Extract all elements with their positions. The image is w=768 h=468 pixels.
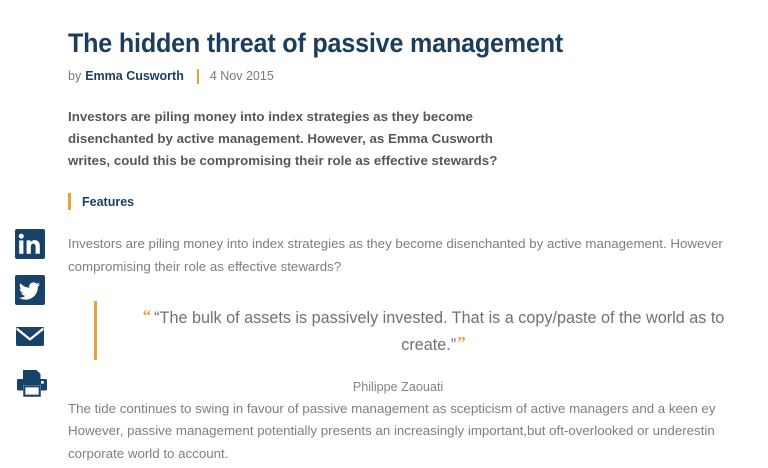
envelope-icon bbox=[14, 320, 46, 352]
category-tag-features[interactable]: Features bbox=[82, 195, 134, 209]
byline-date: 4 Nov 2015 bbox=[210, 70, 274, 83]
pull-quote: ““The bulk of assets is passively invest… bbox=[94, 301, 754, 360]
quote-close-mark: ” bbox=[457, 333, 466, 352]
pull-quote-text-row: ““The bulk of assets is passively invest… bbox=[113, 303, 754, 358]
article-intro-paragraph: Investors are piling money into index st… bbox=[68, 233, 768, 279]
social-share-rail bbox=[14, 228, 54, 398]
byline-author-link[interactable]: Emma Cusworth bbox=[85, 70, 184, 83]
quote-open-mark: “ bbox=[143, 306, 152, 325]
article-standfirst: Investors are piling money into index st… bbox=[68, 106, 498, 171]
pull-quote-attribution: Philippe Zaouati bbox=[68, 380, 728, 394]
printer-icon bbox=[14, 366, 50, 402]
byline: by Emma Cusworth 4 Nov 2015 bbox=[68, 69, 768, 84]
linkedin-icon bbox=[14, 228, 46, 260]
linkedin-share-button[interactable] bbox=[14, 228, 46, 260]
article-content: The hidden threat of passive management … bbox=[68, 0, 768, 468]
print-button[interactable] bbox=[14, 366, 46, 398]
byline-divider bbox=[197, 69, 199, 84]
pull-quote-text: “The bulk of assets is passively investe… bbox=[154, 309, 724, 354]
page-title: The hidden threat of passive management bbox=[68, 0, 725, 58]
article-page: The hidden threat of passive management … bbox=[0, 0, 768, 468]
byline-by-word: by bbox=[68, 70, 81, 83]
article-body-paragraph: The tide continues to swing in favour of… bbox=[68, 398, 768, 467]
email-share-button[interactable] bbox=[14, 320, 46, 352]
category-tag-row: Features bbox=[68, 193, 768, 210]
twitter-icon bbox=[14, 274, 46, 306]
category-tag-bar bbox=[68, 193, 71, 210]
twitter-share-button[interactable] bbox=[14, 274, 46, 306]
